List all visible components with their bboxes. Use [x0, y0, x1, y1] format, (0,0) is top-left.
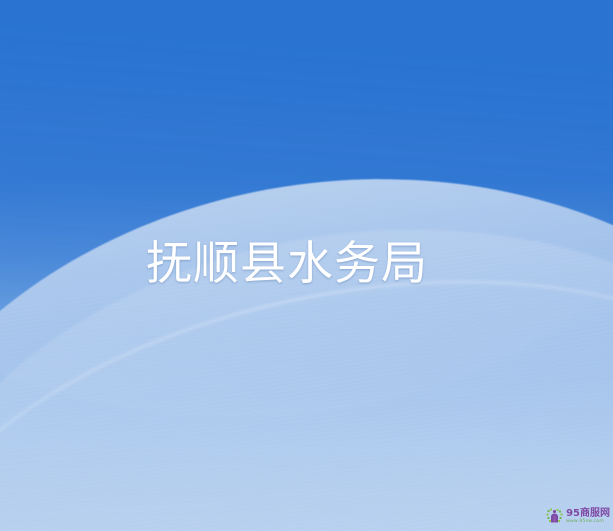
watermark-name: 95商服网 [566, 509, 610, 519]
site-banner: 抚顺县水务局 95商服网 www.95sw.com [0, 0, 613, 531]
banner-title: 抚顺县水务局 [146, 236, 428, 290]
watermark-url: www.95sw.com [566, 520, 610, 525]
watermark-text: 95商服网 www.95sw.com [566, 509, 610, 525]
watermark: 95商服网 www.95sw.com [546, 508, 610, 525]
figures-logo-icon [546, 508, 563, 525]
